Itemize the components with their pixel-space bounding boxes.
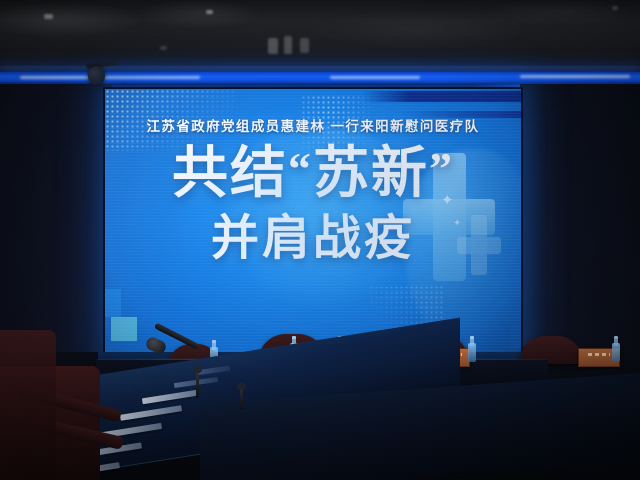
screen-title-line-2: 并肩战疫 xyxy=(105,214,521,264)
led-highlight-3 xyxy=(520,75,630,78)
teal-square-decoration xyxy=(111,317,137,341)
screen-kicker-text: 江苏省政府党组成员惠建林 一行来阳新慰问医疗队 xyxy=(105,115,521,135)
title-quote-close: ” xyxy=(429,143,454,194)
foreground-chair-2 xyxy=(0,330,56,480)
spotlight-icon xyxy=(88,66,105,85)
title-quote-open: “ xyxy=(288,143,313,194)
screen-title-line-1: 共结“苏新” xyxy=(105,145,521,204)
blue-square-decoration xyxy=(105,289,121,317)
desk-microphone-stem-1 xyxy=(196,372,199,398)
title-line1-part-a: 共结 xyxy=(172,143,288,205)
desk-microphone-stem-2 xyxy=(240,388,243,410)
ceiling-lamp-6 xyxy=(612,6,618,10)
desk-microphone-head-2 xyxy=(237,383,246,390)
ceiling-lamp-1 xyxy=(44,14,53,19)
navy-band-top-right xyxy=(361,91,521,102)
ceiling-lamp-2 xyxy=(206,10,213,14)
led-highlight-2 xyxy=(330,76,420,79)
photo-scene: ✦ ✦ ✦ 江苏省政府党组成员惠建林 一行来阳新慰问医疗队 共结“苏新” 并肩战… xyxy=(0,0,640,480)
ceiling-lamp-7 xyxy=(160,46,167,50)
led-screen[interactable]: ✦ ✦ ✦ 江苏省政府党组成员惠建林 一行来阳新慰问医疗队 共结“苏新” 并肩战… xyxy=(105,89,521,353)
led-highlight-1 xyxy=(20,76,200,79)
water-bottle-4 xyxy=(468,336,476,362)
title-line1-part-b: 苏新 xyxy=(313,143,429,205)
water-bottle-5 xyxy=(612,336,620,362)
ceiling-lamp-4 xyxy=(284,36,292,54)
ceiling-lamp-5 xyxy=(300,38,309,53)
ceiling-lamp-3 xyxy=(268,38,278,54)
screen-title-block: 共结“苏新” 并肩战疫 xyxy=(105,145,521,264)
desk-microphone-head-1 xyxy=(193,366,202,373)
